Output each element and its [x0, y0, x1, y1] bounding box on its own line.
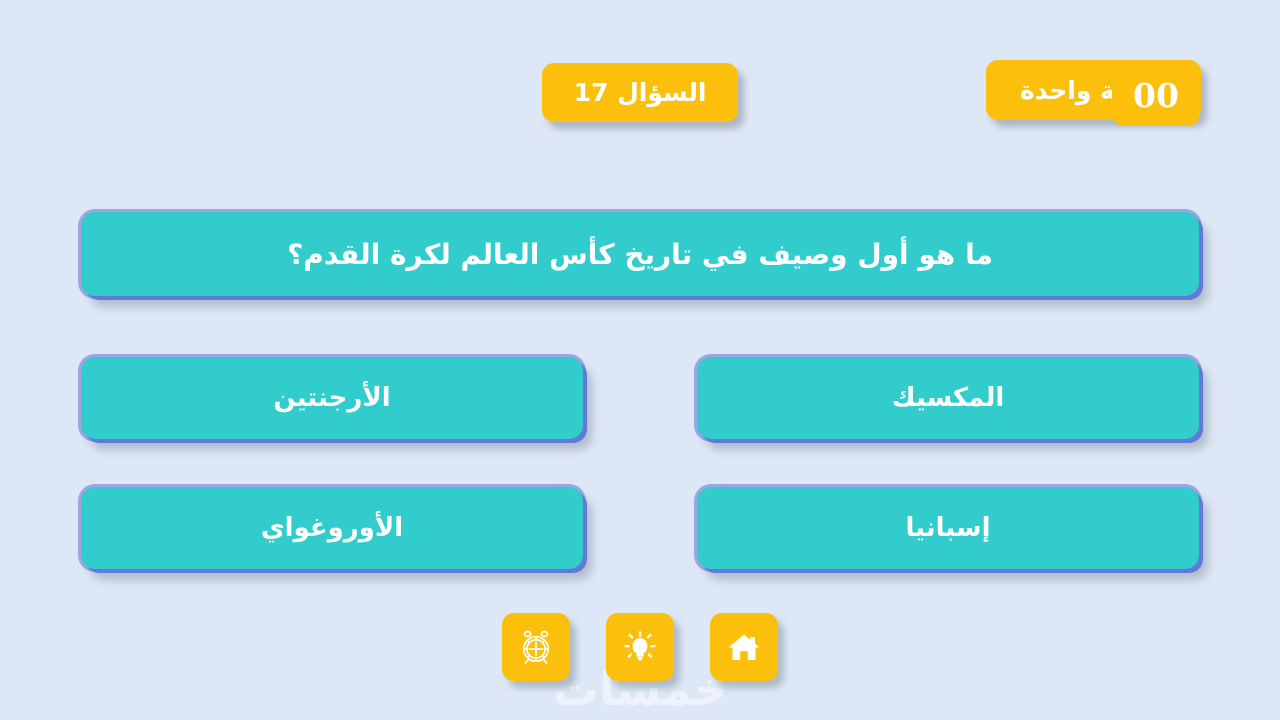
answer-option-mexico[interactable]: المكسيك: [697, 357, 1199, 439]
answer-option-argentina[interactable]: الأرجنتين: [81, 357, 583, 439]
header-bar: نقطة واحدة السؤال 17 00: [0, 0, 1280, 170]
lightbulb-icon: [620, 627, 660, 667]
question-banner: ما هو أول وصيف في تاريخ كأس العالم لكرة …: [81, 212, 1199, 296]
timer-button[interactable]: [502, 613, 570, 681]
answer-option-spain[interactable]: إسبانيا: [697, 487, 1199, 569]
quiz-screen: خمسات نقطة واحدة السؤال 17 00 ما هو أول …: [0, 0, 1280, 720]
hint-button[interactable]: [606, 613, 674, 681]
bottom-toolbar: [0, 613, 1280, 683]
answer-option-uruguay[interactable]: الأوروغواي: [81, 487, 583, 569]
alarm-clock-icon: [515, 626, 557, 668]
home-icon: [724, 627, 764, 667]
home-button[interactable]: [710, 613, 778, 681]
timer-badge: 00: [1112, 64, 1200, 126]
question-number-badge: السؤال 17: [542, 63, 738, 122]
